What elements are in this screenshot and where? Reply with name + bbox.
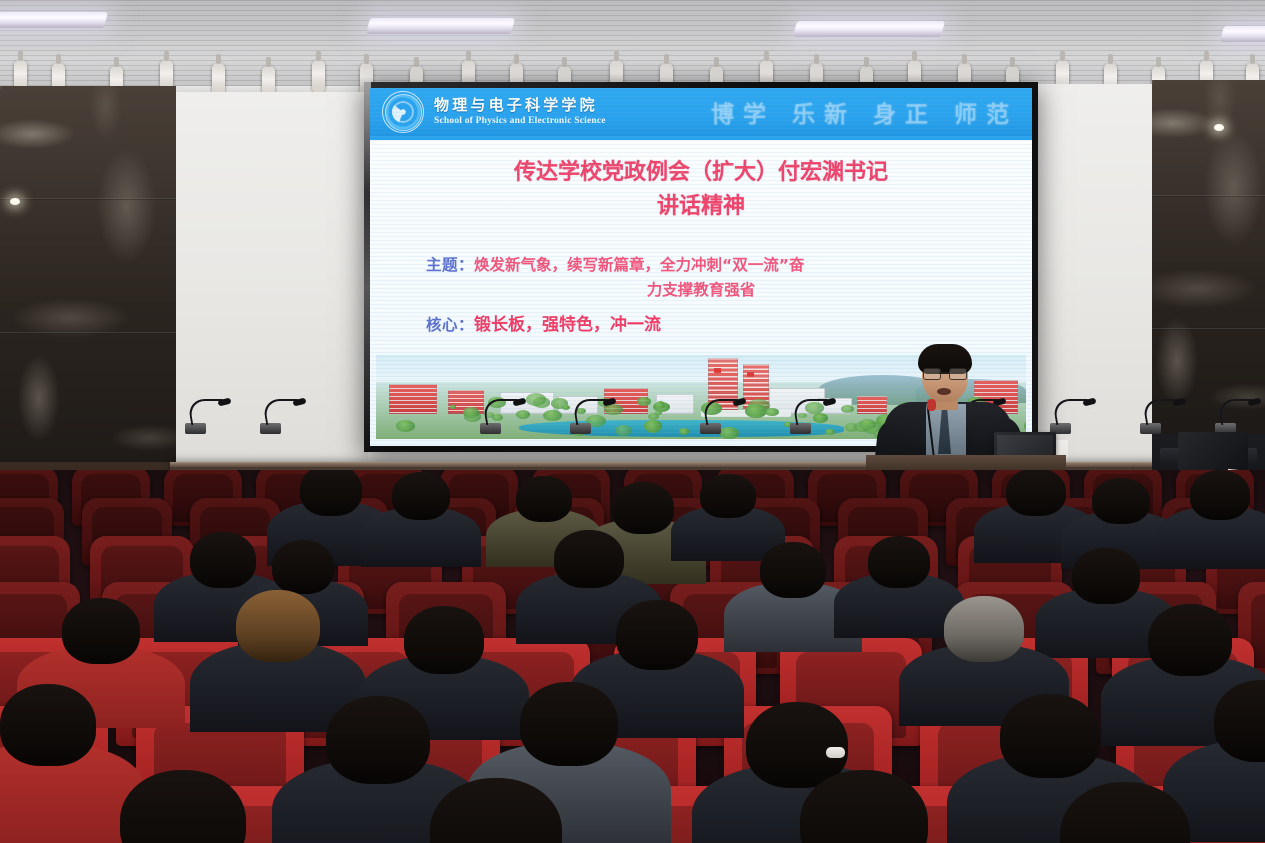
foliage bbox=[637, 397, 650, 405]
foliage bbox=[679, 428, 689, 434]
marble-panel-right bbox=[1152, 80, 1265, 440]
fluorescent-strip-light bbox=[1220, 26, 1265, 42]
slide-title-line2: 讲话精神 bbox=[370, 190, 1032, 224]
slide-title: 传达学校党政例会（扩大）付宏渊书记 讲话精神 bbox=[370, 156, 1032, 224]
school-name-en: School of Physics and Electronic Science bbox=[434, 116, 606, 126]
slide-core-text: 锻长板，强特色，冲一流 bbox=[474, 315, 661, 335]
motto-watermark: 博学 乐新 身正 师范 bbox=[711, 95, 1018, 129]
foliage bbox=[719, 427, 739, 439]
audience-person-head bbox=[272, 540, 334, 594]
audience-person-head bbox=[392, 472, 450, 520]
fluorescent-strip-light bbox=[0, 12, 108, 28]
foliage bbox=[562, 405, 570, 410]
foliage bbox=[654, 402, 665, 409]
foliage bbox=[396, 420, 415, 432]
audience-person-head bbox=[516, 476, 572, 522]
school-name-block: 物理与电子科学学院 School of Physics and Electron… bbox=[434, 97, 606, 126]
audience-person-head bbox=[326, 696, 430, 784]
slide-banner: 物理与电子科学学院 School of Physics and Electron… bbox=[370, 88, 1032, 136]
foliage bbox=[859, 419, 876, 430]
slide-title-line1: 传达学校党政例会（扩大）付宏渊书记 bbox=[370, 156, 1032, 190]
audience-person-head bbox=[944, 596, 1024, 662]
foliage bbox=[648, 413, 659, 420]
audience-person-head bbox=[62, 598, 140, 664]
foliage bbox=[543, 410, 562, 422]
audience-person-head bbox=[1006, 470, 1066, 516]
school-name-cn: 物理与电子科学学院 bbox=[434, 97, 606, 113]
audience-person-head bbox=[190, 532, 256, 588]
foliage bbox=[825, 429, 835, 435]
audience-person-head bbox=[404, 606, 484, 674]
university-emblem-icon bbox=[382, 91, 424, 133]
audience-seating-area bbox=[0, 470, 1265, 843]
foliage bbox=[841, 405, 855, 414]
foliage bbox=[463, 407, 480, 417]
audience-person-head bbox=[612, 482, 674, 534]
audience-person-head bbox=[1072, 548, 1140, 604]
audience-person-head bbox=[1190, 470, 1250, 520]
glasses-icon bbox=[923, 368, 967, 378]
slide-body: 主题：焕发新气象，续写新篇章，全力冲刺“双一流”奋 力支撑教育强省 核心：锻长板… bbox=[370, 250, 1032, 342]
slide-theme-text-1: 焕发新气象，续写新篇章，全力冲刺“双一流”奋 bbox=[474, 256, 804, 274]
foliage bbox=[745, 404, 767, 418]
marble-panel-left bbox=[0, 86, 176, 486]
audience-person-head bbox=[760, 542, 826, 598]
audience-person-head bbox=[236, 590, 320, 662]
audience-person-head bbox=[1148, 604, 1232, 676]
audience-person-head bbox=[1000, 694, 1100, 778]
slide-core-line: 核心：锻长板，强特色，冲一流 bbox=[426, 308, 976, 342]
fluorescent-strip-light bbox=[793, 21, 945, 37]
audience-person-head bbox=[616, 600, 698, 670]
meeting-room-photo: 物理与电子科学学院 School of Physics and Electron… bbox=[0, 0, 1265, 843]
fluorescent-strip-light bbox=[366, 18, 515, 34]
foliage bbox=[526, 393, 546, 405]
audience-person-head bbox=[700, 474, 756, 518]
audience-person-head bbox=[520, 682, 618, 766]
foliage bbox=[644, 420, 663, 431]
face-mask bbox=[826, 747, 845, 758]
slide-theme-label: 主题： bbox=[426, 256, 474, 274]
foliage bbox=[615, 425, 632, 436]
slide-core-label: 核心： bbox=[426, 316, 474, 334]
audience-person-head bbox=[300, 470, 362, 516]
audience-person-head bbox=[554, 530, 624, 588]
track-spotlight bbox=[312, 60, 325, 94]
audience-person-head bbox=[868, 536, 930, 588]
audience-person-head bbox=[0, 684, 96, 766]
audience-person-head bbox=[1092, 478, 1150, 524]
